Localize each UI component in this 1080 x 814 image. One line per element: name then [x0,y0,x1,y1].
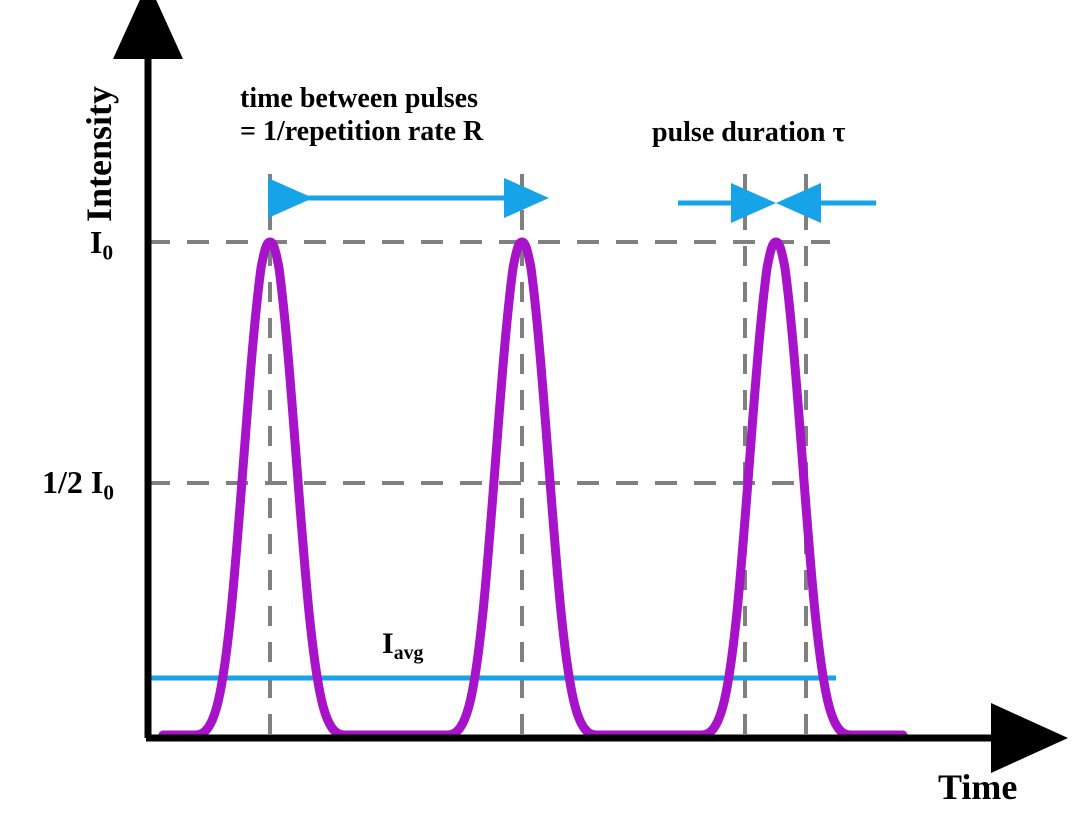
pulse-duration-annotation: pulse duration τ [652,116,845,149]
i-avg-label: Iavg [382,626,423,665]
i0-subscript: 0 [102,240,113,264]
i-avg-subscript: avg [394,642,424,664]
y-tick-label-half-i0: 1/2 I0 [42,464,114,505]
half-i0-base: 1/2 I [42,464,103,500]
i0-base: I [90,224,102,260]
y-tick-label-i0: I0 [90,224,113,265]
figure-canvas: Intensity Time I0 1/2 I0 Iavg time betwe… [0,0,1080,814]
pulse-train-curve [163,242,903,735]
y-axis-title: Intensity [78,86,120,222]
x-axis-title: Time [938,766,1017,808]
pulse-train-chart [0,0,1080,814]
half-i0-subscript: 0 [103,480,114,504]
i-avg-base: I [382,627,394,660]
period-annotation: time between pulses = 1/repetition rate … [240,82,483,148]
period-annotation-line1: time between pulses [240,82,483,115]
period-annotation-line2: = 1/repetition rate R [240,115,483,148]
